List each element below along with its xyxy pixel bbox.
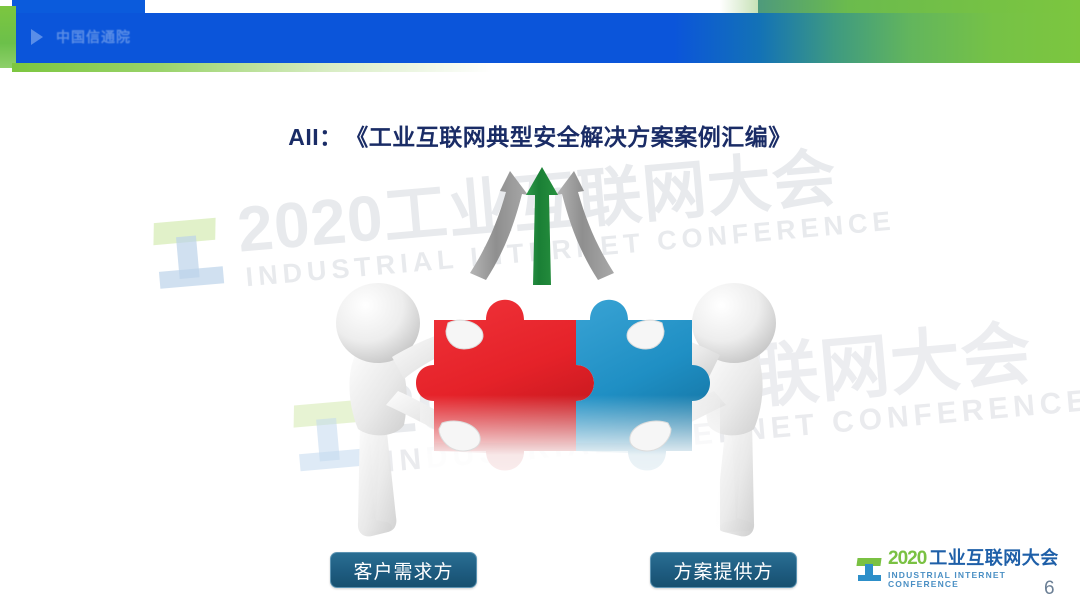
banner-logo: 中国信通院 — [28, 27, 131, 47]
banner-left-green-tab — [0, 6, 16, 68]
label-solution-provider[interactable]: 方案提供方 — [650, 552, 797, 588]
page-number: 6 — [1044, 578, 1055, 600]
banner-top-green-strip — [758, 0, 1080, 13]
footer-logo-year: 2020 — [888, 549, 926, 568]
banner-top-blue-strip — [12, 0, 145, 13]
slide-header-banner: 中国信通院 — [0, 0, 1080, 72]
footer-logo-chinese: 工业互联网大会 — [929, 549, 1059, 567]
slide-title: AII：《工业互联网典型安全解决方案案例汇编》 — [0, 118, 1080, 152]
banner-logo-label: 中国信通院 — [56, 27, 131, 47]
slide-title-main: 《工业互联网典型安全解决方案案例汇编》 — [357, 124, 792, 150]
play-triangle-icon — [28, 27, 48, 47]
banner-under-glow — [12, 63, 1080, 72]
puzzle-handshake-illustration — [300, 245, 810, 555]
conference-logo-mark-icon — [148, 211, 228, 291]
label-customer-demand[interactable]: 客户需求方 — [330, 552, 477, 588]
slide-title-prefix: AII： — [288, 124, 342, 150]
conference-logo-mark-icon — [856, 556, 882, 582]
presentation-slide: 中国信通院 2020工业互联网大会 INDUSTRIAL INTERNET CO… — [0, 0, 1080, 608]
banner-gradient-band — [12, 13, 1080, 63]
scene-reflection-plane — [420, 395, 720, 545]
